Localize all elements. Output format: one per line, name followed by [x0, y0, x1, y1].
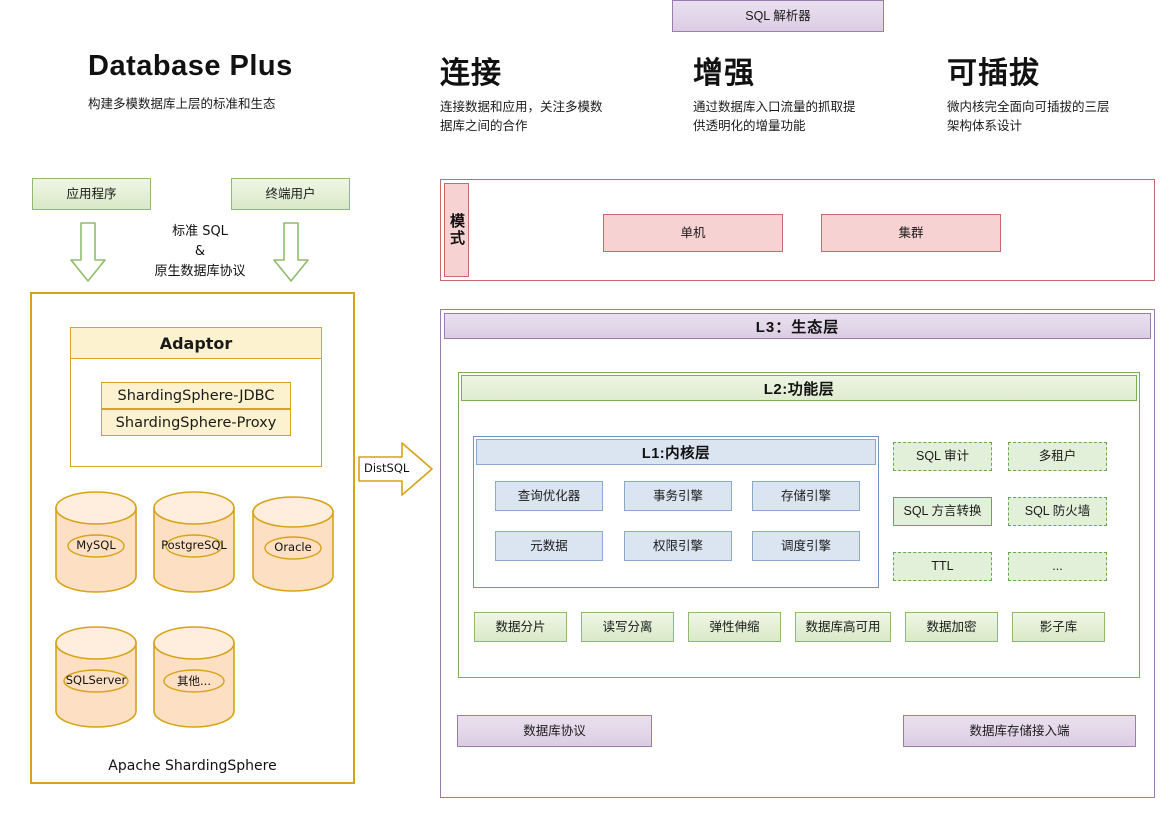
- l1-engine-transaction[interactable]: 事务引擎: [624, 481, 732, 511]
- adaptor-title: Adaptor: [71, 328, 321, 359]
- l2-feature-elastic-scaling[interactable]: 弹性伸缩: [688, 612, 781, 642]
- adaptor-item-proxy[interactable]: ShardingSphere-Proxy: [101, 409, 291, 436]
- distsql-arrow: DistSQL: [358, 440, 434, 498]
- l3-title: L3：生态层: [444, 313, 1151, 339]
- adaptor-item-jdbc[interactable]: ShardingSphere-JDBC: [101, 382, 291, 409]
- header-title-pluggable: 可插拔: [947, 48, 1040, 92]
- header-title-connect: 连接: [440, 48, 502, 92]
- mode-item-cluster[interactable]: 集群: [821, 214, 1001, 252]
- l1-engine-scheduler[interactable]: 调度引擎: [752, 531, 860, 561]
- header-subtitle-pluggable: 微内核完全面向可插拔的三层 架构体系设计: [947, 98, 1162, 136]
- arrow-down-left: [68, 222, 108, 284]
- l2-feature-high-availability[interactable]: 数据库高可用: [795, 612, 891, 642]
- database-cylinder-postgresql[interactable]: PostgreSQL: [150, 490, 238, 594]
- database-cylinder-mysql[interactable]: MySQL: [52, 490, 140, 594]
- mode-item-standalone[interactable]: 单机: [603, 214, 783, 252]
- l2-feature-shadow-db[interactable]: 影子库: [1012, 612, 1105, 642]
- l3-item-storage-connector[interactable]: 数据库存储接入端: [903, 715, 1136, 747]
- client-box-application[interactable]: 应用程序: [32, 178, 151, 210]
- l2-plugin-ttl[interactable]: TTL: [893, 552, 992, 581]
- protocol-note: 标准 SQL & 原生数据库协议: [120, 222, 280, 282]
- mode-panel: [440, 179, 1155, 281]
- database-cylinder-sqlserver[interactable]: SQLServer: [52, 625, 140, 729]
- header-title-enhance: 增强: [693, 48, 755, 92]
- l2-plugin-more[interactable]: ...: [1008, 552, 1107, 581]
- page-subtitle-database-plus: 构建多模数据库上层的标准和生态: [88, 95, 388, 114]
- database-cylinder-oracle[interactable]: Oracle: [249, 496, 337, 594]
- l2-plugin-multi-tenant[interactable]: 多租户: [1008, 442, 1107, 471]
- l1-engine-query-optimizer[interactable]: 查询优化器: [495, 481, 603, 511]
- distsql-label: DistSQL: [364, 461, 409, 475]
- mode-tab-label: 模式: [446, 213, 467, 247]
- l2-title: L2:功能层: [461, 375, 1137, 401]
- l1-engine-metadata[interactable]: 元数据: [495, 531, 603, 561]
- l2-feature-sharding[interactable]: 数据分片: [474, 612, 567, 642]
- header-subtitle-enhance: 通过数据库入口流量的抓取提 供透明化的增量功能: [693, 98, 908, 136]
- l1-title: L1:内核层: [476, 439, 876, 465]
- l3-item-database-protocol[interactable]: 数据库协议: [457, 715, 652, 747]
- client-box-end-user[interactable]: 终端用户: [231, 178, 350, 210]
- l2-plugin-sql-audit[interactable]: SQL 审计: [893, 442, 992, 471]
- page-title-database-plus: Database Plus: [88, 50, 293, 83]
- l2-plugin-sql-firewall[interactable]: SQL 防火墙: [1008, 497, 1107, 526]
- l3-item-sql-parser[interactable]: SQL 解析器: [672, 0, 884, 32]
- panel-footer-label: Apache ShardingSphere: [30, 758, 355, 774]
- l1-engine-authority[interactable]: 权限引擎: [624, 531, 732, 561]
- mode-tab: 模式: [444, 183, 469, 277]
- l2-plugin-sql-dialect-translation[interactable]: SQL 方言转换: [893, 497, 992, 526]
- database-cylinder-other[interactable]: 其他...: [150, 625, 238, 729]
- header-subtitle-connect: 连接数据和应用，关注多模数 据库之间的合作: [440, 98, 650, 136]
- l2-feature-read-write-split[interactable]: 读写分离: [581, 612, 674, 642]
- l2-feature-encryption[interactable]: 数据加密: [905, 612, 998, 642]
- l1-engine-storage[interactable]: 存储引擎: [752, 481, 860, 511]
